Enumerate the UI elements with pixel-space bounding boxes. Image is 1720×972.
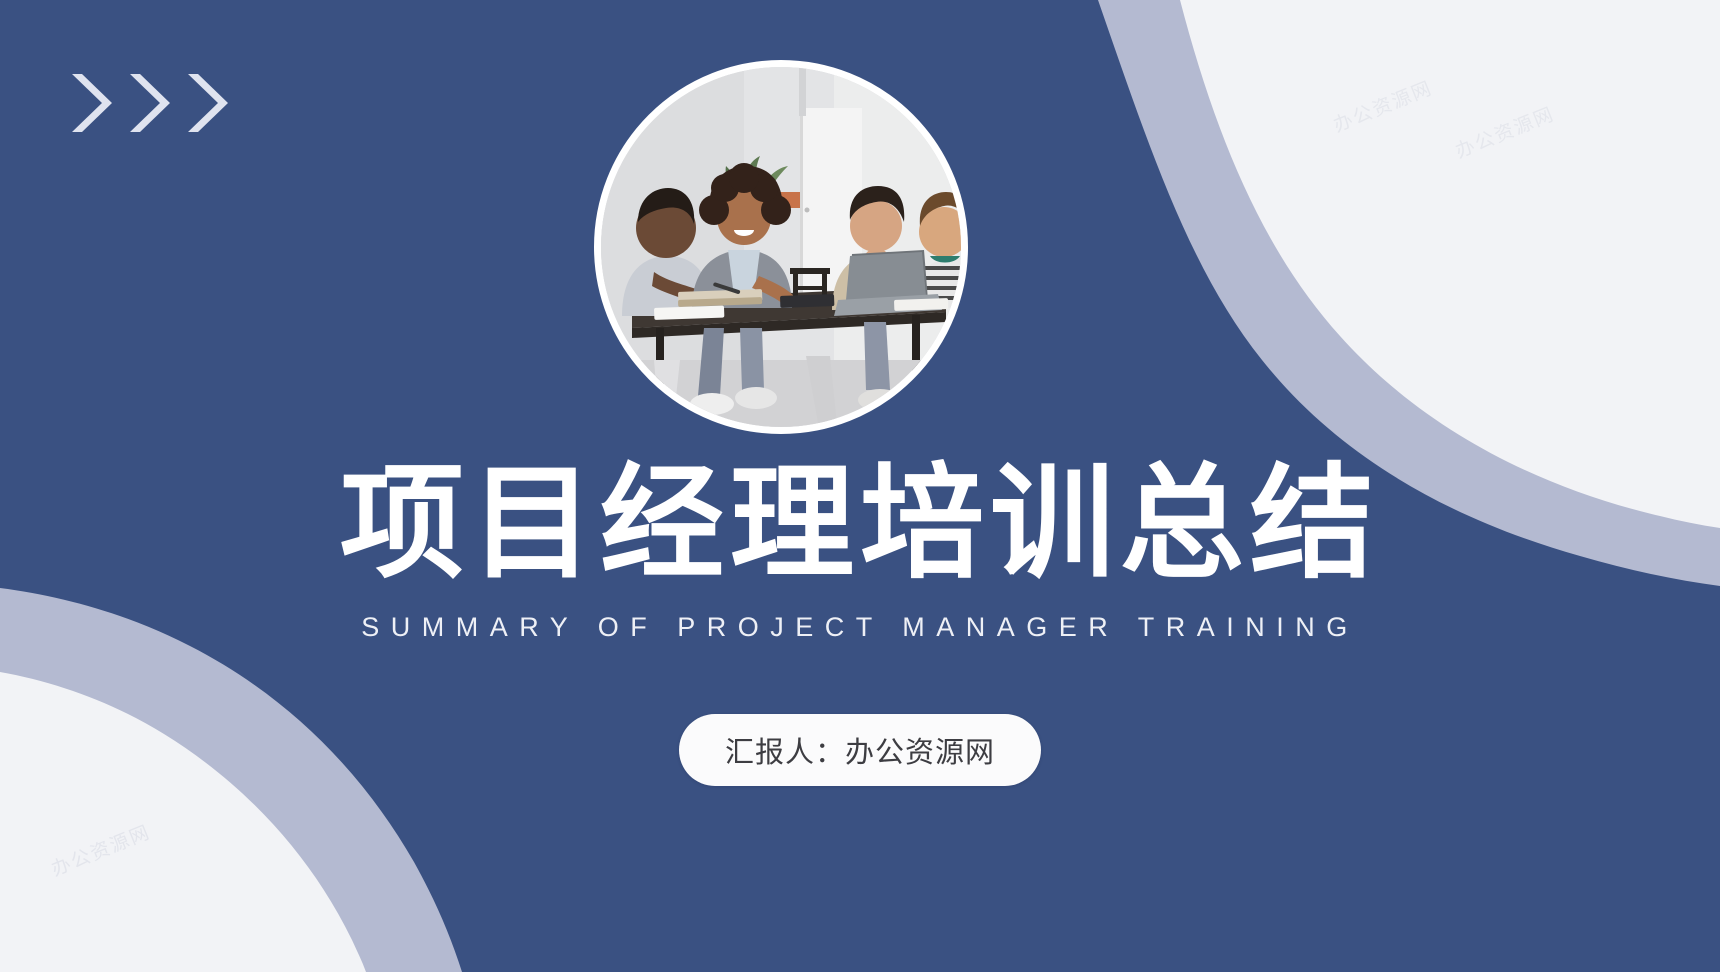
presentation-slide: 项目经理培训总结 SUMMARY OF PROJECT MANAGER TRAI… (0, 0, 1720, 972)
top-right-white-shape (1180, 0, 1720, 528)
business-meeting-photo (594, 60, 968, 434)
watermark-text: 办公资源网 (1329, 73, 1436, 137)
hero-photo-circle (594, 60, 968, 434)
title-block: 项目经理培训总结 SUMMARY OF PROJECT MANAGER TRAI… (0, 462, 1720, 643)
bottom-left-periwinkle-shape (0, 588, 462, 972)
watermark-text: 办公资源网 (47, 817, 154, 881)
chevron-right-icon (68, 72, 116, 134)
presenter-badge[interactable]: 汇报人：办公资源网 (679, 714, 1041, 786)
page-title: 项目经理培训总结 (0, 462, 1720, 586)
chevron-arrow-group (68, 72, 232, 134)
watermark-text: 办公资源网 (1451, 99, 1558, 163)
page-subtitle: SUMMARY OF PROJECT MANAGER TRAINING (0, 612, 1720, 643)
chevron-right-icon (126, 72, 174, 134)
bottom-left-white-shape (0, 672, 366, 972)
chevron-right-icon (184, 72, 232, 134)
